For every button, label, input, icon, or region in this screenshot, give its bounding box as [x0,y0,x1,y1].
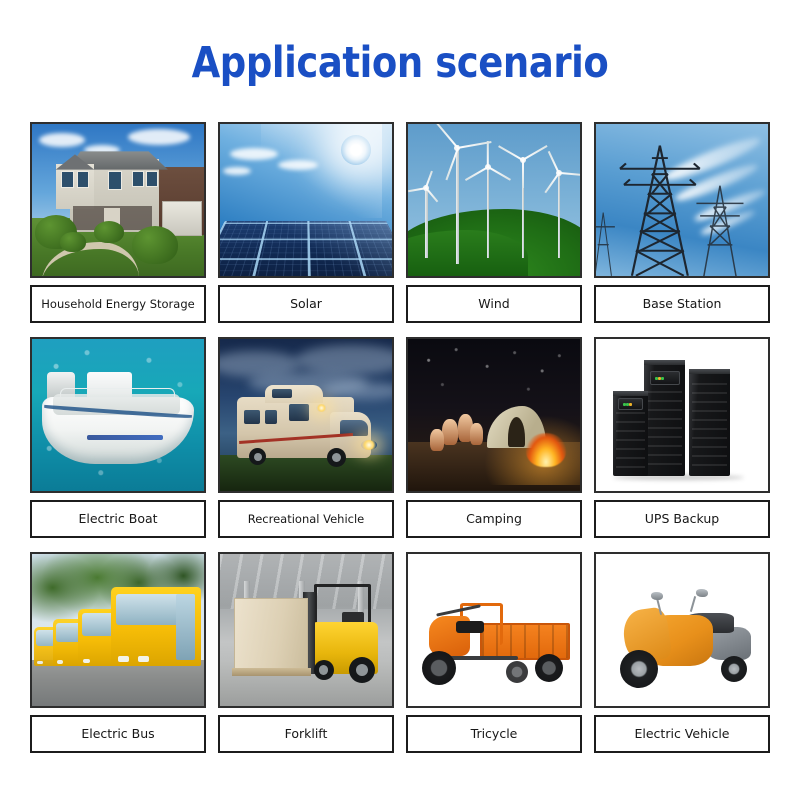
scenario-label-household-energy-storage: Household Energy Storage [30,285,206,323]
scenario-card-recreational-vehicle[interactable]: Recreational Vehicle [218,337,394,538]
scenario-card-camping[interactable]: Camping [406,337,582,538]
scenario-grid: Household Energy Storage Solar [30,122,775,753]
scenario-card-household-energy-storage[interactable]: Household Energy Storage [30,122,206,323]
scenario-image-ups-backup [594,337,770,493]
scenario-image-camping [406,337,582,493]
scenario-label-tricycle: Tricycle [406,715,582,753]
scenario-card-wind[interactable]: Wind [406,122,582,323]
scenario-label-camping: Camping [406,500,582,538]
application-scenario-page: Application scenario [0,0,800,800]
scenario-label-forklift: Forklift [218,715,394,753]
scenario-card-tricycle[interactable]: Tricycle [406,552,582,753]
scenario-label-base-station: Base Station [594,285,770,323]
scenario-image-wind [406,122,582,278]
scenario-image-electric-bus [30,552,206,708]
scenario-label-solar: Solar [218,285,394,323]
scenario-card-ups-backup[interactable]: UPS Backup [594,337,770,538]
scenario-label-ups-backup: UPS Backup [594,500,770,538]
scenario-image-electric-boat [30,337,206,493]
scenario-label-electric-bus: Electric Bus [30,715,206,753]
scenario-image-forklift [218,552,394,708]
scenario-card-forklift[interactable]: Forklift [218,552,394,753]
scenario-image-tricycle [406,552,582,708]
scenario-card-solar[interactable]: Solar [218,122,394,323]
scenario-card-electric-boat[interactable]: Electric Boat [30,337,206,538]
scenario-card-electric-vehicle[interactable]: Electric Vehicle [594,552,770,753]
scenario-label-recreational-vehicle: Recreational Vehicle [218,500,394,538]
scenario-label-electric-vehicle: Electric Vehicle [594,715,770,753]
scenario-card-base-station[interactable]: Base Station [594,122,770,323]
scenario-label-wind: Wind [406,285,582,323]
page-title: Application scenario [56,38,744,88]
scenario-image-electric-vehicle [594,552,770,708]
scenario-label-electric-boat: Electric Boat [30,500,206,538]
scenario-card-electric-bus[interactable]: Electric Bus [30,552,206,753]
scenario-image-house [30,122,206,278]
scenario-image-solar [218,122,394,278]
scenario-image-base-station [594,122,770,278]
scenario-image-recreational-vehicle [218,337,394,493]
